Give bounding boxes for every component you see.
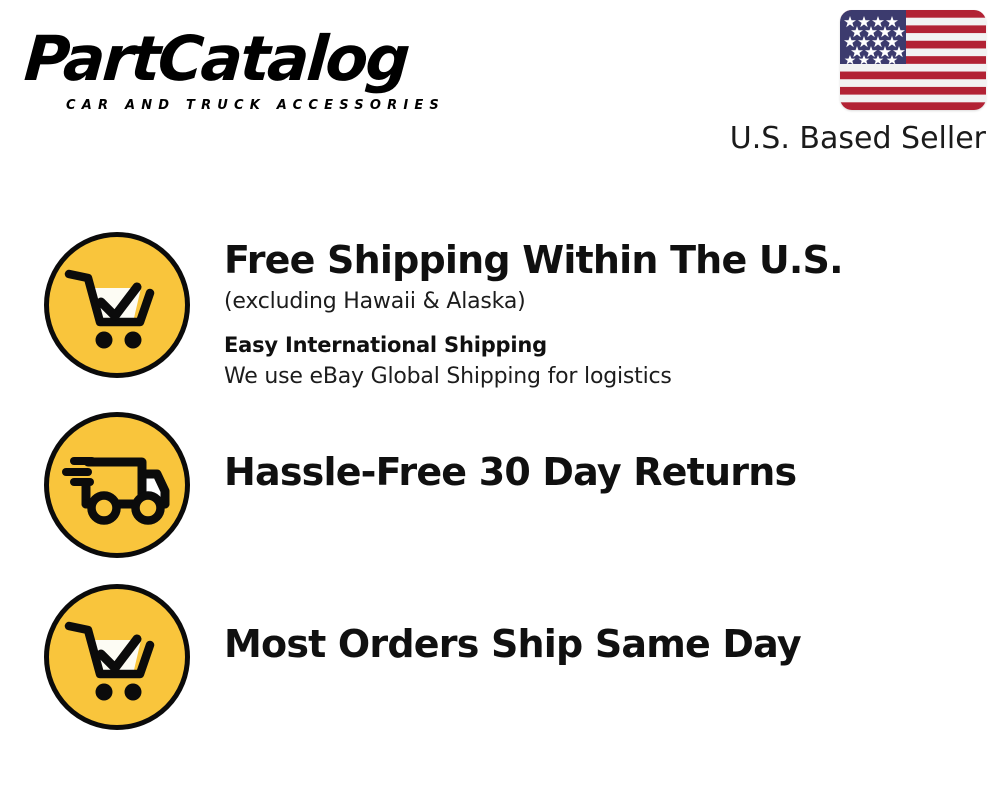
us-seller-label: U.S. Based Seller — [730, 120, 986, 158]
feature-title: Most Orders Ship Same Day — [224, 620, 1000, 668]
us-based-seller-badge: U.S. Based Seller — [716, 8, 986, 158]
feature-icon-wrapper — [44, 412, 190, 558]
feature-icon-wrapper — [44, 584, 190, 730]
feature-text-block: Hassle-Free 30 Day Returns — [190, 412, 1000, 496]
feature-text-block: Most Orders Ship Same Day — [190, 584, 1000, 668]
us-flag-icon — [840, 10, 986, 110]
feature-subtitle: Easy International Shipping — [224, 330, 1000, 360]
delivery-truck-icon — [44, 412, 190, 558]
feature-row: Free Shipping Within The U.S. (excluding… — [0, 232, 1000, 400]
header-bar: PartCatalog CAR AND TRUCK ACCESSORIES — [0, 0, 1000, 170]
shopping-cart-check-icon — [44, 232, 190, 378]
feature-title: Hassle-Free 30 Day Returns — [224, 448, 1000, 496]
feature-row: Hassle-Free 30 Day Returns — [0, 412, 1000, 574]
brand-wordmark: PartCatalog — [22, 22, 410, 96]
brand-tagline: CAR AND TRUCK ACCESSORIES — [66, 98, 445, 114]
feature-icon-wrapper — [44, 232, 190, 378]
feature-row: Most Orders Ship Same Day — [0, 584, 1000, 746]
feature-title: Free Shipping Within The U.S. — [224, 236, 1000, 284]
feature-text-block: Free Shipping Within The U.S. (excluding… — [190, 232, 1000, 392]
shopping-cart-check-icon — [44, 584, 190, 730]
feature-subnote: We use eBay Global Shipping for logistic… — [224, 361, 1000, 392]
brand-logo[interactable]: PartCatalog CAR AND TRUCK ACCESSORIES — [22, 22, 492, 117]
feature-note: (excluding Hawaii & Alaska) — [224, 286, 1000, 318]
